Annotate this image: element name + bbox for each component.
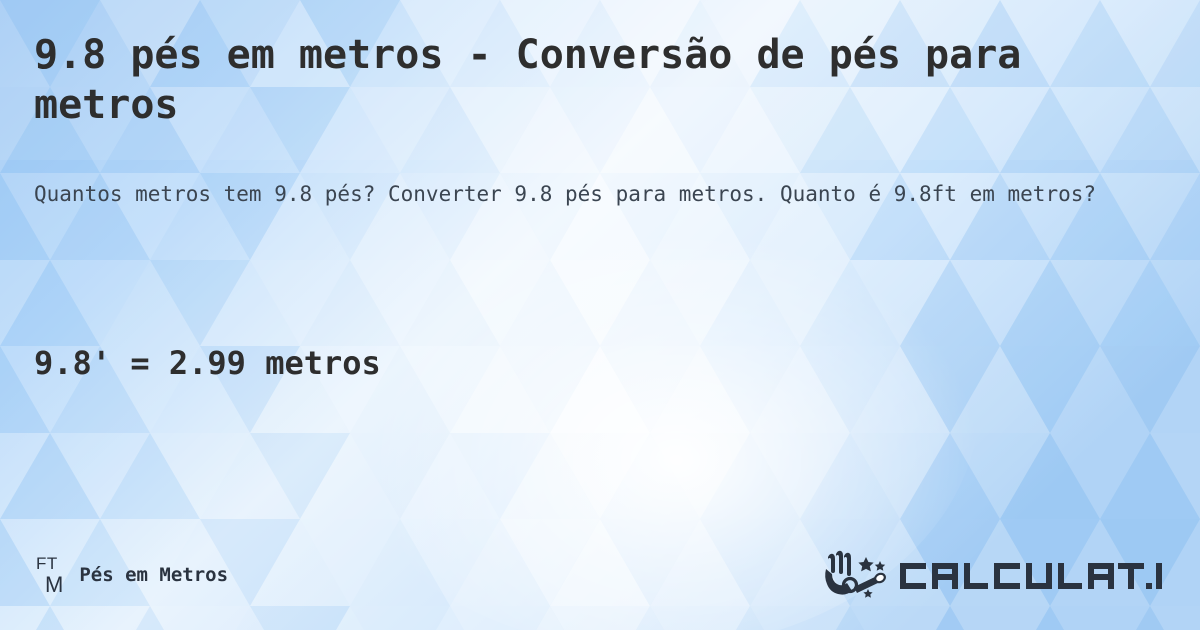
ft-to-m-icon-bottom-label: M	[45, 574, 63, 596]
brand-logo[interactable]: CALCULAT.IO	[816, 547, 1166, 603]
footer-converter-label: Pés em Metros	[79, 564, 228, 586]
og-image-card: 9.8 pés em metros - Conversão de pés par…	[0, 0, 1200, 630]
page-title: 9.8 pés em metros - Conversão de pés par…	[34, 30, 1154, 130]
ft-to-m-icon-top-label: FT	[36, 555, 58, 572]
brand-wordmark-text	[900, 563, 1162, 589]
magic-wand-hand-icon	[825, 551, 886, 598]
card-content: 9.8 pés em metros - Conversão de pés par…	[0, 0, 1200, 630]
footer-left: FT M Pés em Metros	[36, 555, 228, 596]
page-subtitle: Quantos metros tem 9.8 pés? Converter 9.…	[34, 176, 1154, 212]
footer: FT M Pés em Metros	[0, 520, 1200, 630]
ft-to-m-icon: FT M	[36, 555, 63, 596]
conversion-result: 9.8' = 2.99 metros	[34, 343, 381, 383]
